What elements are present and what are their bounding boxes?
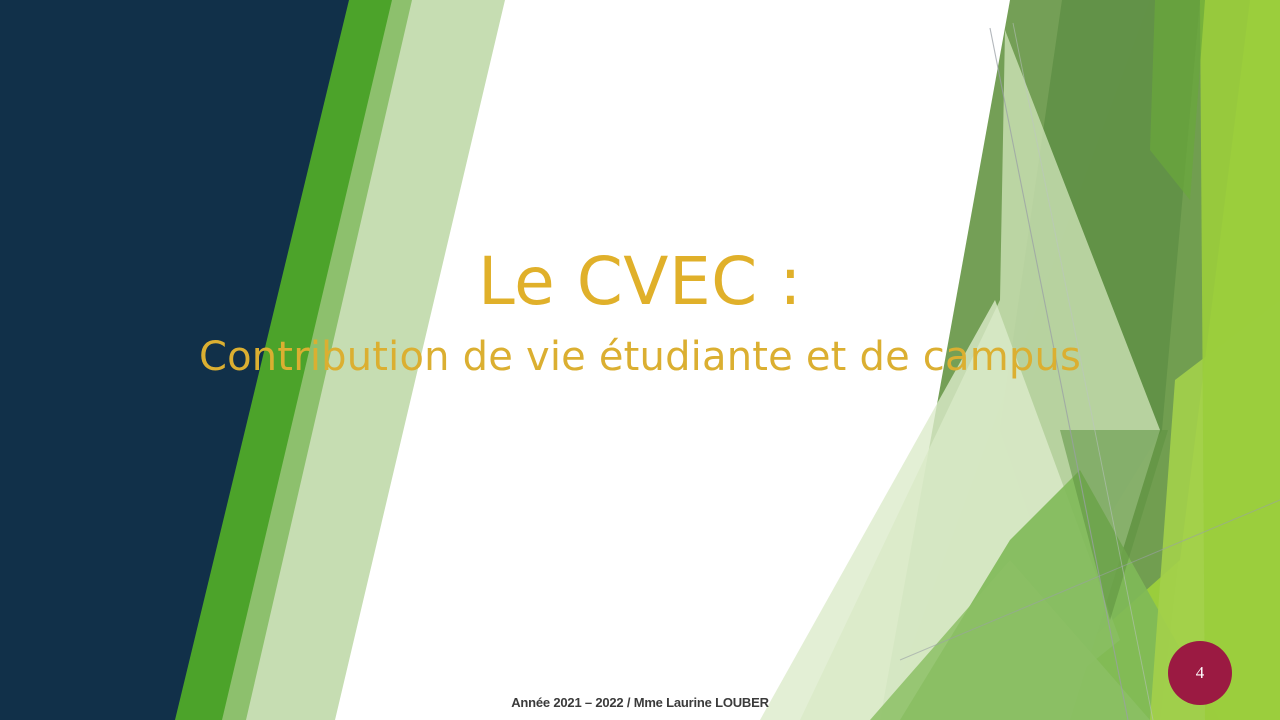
slide-number-badge: 4: [1168, 641, 1232, 705]
slide-title: Le CVEC :: [0, 248, 1280, 317]
slide-text-layer: Le CVEC : Contribution de vie étudiante …: [0, 0, 1280, 720]
presentation-slide: Le CVEC : Contribution de vie étudiante …: [0, 0, 1280, 720]
footer-text: Année 2021 – 2022 / Mme Laurine LOUBER: [0, 695, 1280, 710]
slide-subtitle: Contribution de vie étudiante et de camp…: [0, 335, 1280, 379]
title-block: Le CVEC : Contribution de vie étudiante …: [0, 248, 1280, 379]
slide-number-value: 4: [1196, 663, 1205, 683]
